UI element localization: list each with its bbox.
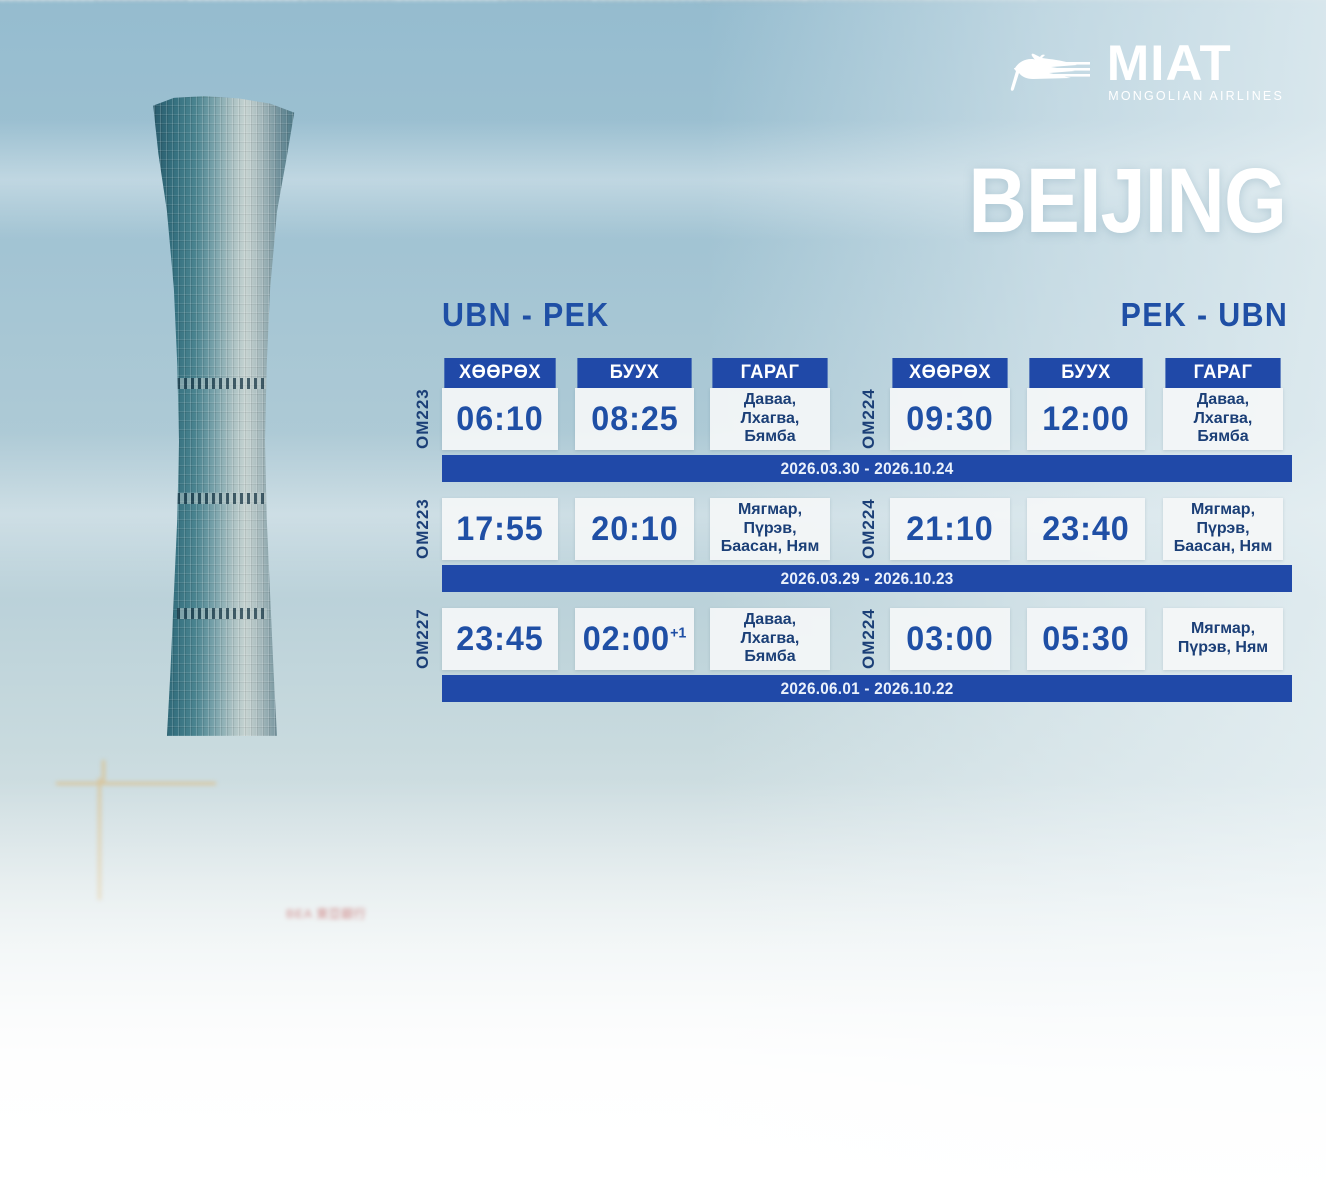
time-value: 02:00+1 [583, 620, 687, 659]
miat-bird-icon [1002, 44, 1094, 100]
cell-outbound-days: Мягмар, Пүрэв, Баасан, Ням [710, 498, 830, 560]
flight-schedule: UBN - PEK PEK - UBN ХӨӨРӨХ БУУХ ГАРАГ ХӨ… [404, 296, 1292, 702]
atmospheric-haze-bottom [0, 780, 1326, 1200]
tower-mech-band [177, 378, 266, 389]
validity-period: 2026.03.30 - 2026.10.24 [781, 459, 954, 479]
header-inbound-arrive: БУУХ [1029, 358, 1142, 388]
days-value: Даваа, Лхагва, Бямба [710, 391, 830, 448]
table-row: OM223 17:55 20:10 Мягмар, Пүрэв, Баасан,… [404, 498, 1292, 560]
time-value: 05:30 [1042, 620, 1129, 659]
time-value: 06:10 [456, 400, 543, 439]
header-outbound-depart: ХӨӨРӨХ [444, 358, 555, 388]
time-value: 23:40 [1042, 510, 1129, 549]
cell-outbound-depart: 17:55 [442, 498, 558, 560]
days-value: Даваа, Лхагва, Бямба [1163, 391, 1283, 448]
header-inbound-depart: ХӨӨРӨХ [892, 358, 1007, 388]
route-label-outbound: UBN - PEK [442, 296, 610, 334]
validity-period: 2026.06.01 - 2026.10.22 [781, 679, 954, 699]
time-text: 02:00 [583, 620, 670, 658]
days-value: Мягмар, Пүрэв, Ням [1163, 620, 1283, 658]
destination-title: BEIJING [968, 160, 1286, 243]
cell-outbound-depart: 06:10 [442, 388, 558, 450]
cell-outbound-days: Даваа, Лхагва, Бямба [710, 388, 830, 450]
cell-outbound-arrive: 02:00+1 [575, 608, 694, 670]
cell-inbound-days: Мягмар, Пүрэв, Ням [1163, 608, 1283, 670]
validity-period-band: 2026.03.30 - 2026.10.24 [442, 455, 1292, 482]
miat-logo[interactable]: MIAT MONGOLIAN AIRLINES [1002, 40, 1284, 103]
time-value: 03:00 [906, 620, 993, 659]
cell-inbound-depart: 21:10 [890, 498, 1010, 560]
time-value: 12:00 [1042, 400, 1129, 439]
validity-period-band: 2026.06.01 - 2026.10.22 [442, 675, 1292, 702]
day-offset-badge: +1 [670, 624, 686, 641]
time-value: 09:30 [906, 400, 993, 439]
flight-number-inbound: OM224 [854, 608, 884, 670]
time-value: 17:55 [456, 510, 543, 549]
cell-outbound-arrive: 08:25 [575, 388, 694, 450]
brand-name: MIAT [1107, 40, 1232, 86]
route-headings: UBN - PEK PEK - UBN [404, 296, 1292, 344]
flight-number-inbound: OM224 [854, 388, 884, 450]
validity-period-band: 2026.03.29 - 2026.10.23 [442, 565, 1292, 592]
cell-outbound-arrive: 20:10 [575, 498, 694, 560]
flight-number-inbound: OM224 [854, 498, 884, 560]
cell-inbound-depart: 03:00 [890, 608, 1010, 670]
table-row: OM227 23:45 02:00+1 Даваа, Лхагва, Бямба… [404, 608, 1292, 670]
cell-outbound-days: Даваа, Лхагва, Бямба [710, 608, 830, 670]
cell-inbound-days: Даваа, Лхагва, Бямба [1163, 388, 1283, 450]
tower-mech-band [177, 493, 266, 504]
validity-period: 2026.03.29 - 2026.10.23 [781, 569, 954, 589]
table-header-row: ХӨӨРӨХ БУУХ ГАРАГ ХӨӨРӨХ БУУХ ГАРАГ [404, 358, 1292, 388]
header-outbound-arrive: БУУХ [577, 358, 691, 388]
cell-inbound-depart: 09:30 [890, 388, 1010, 450]
cell-inbound-days: Мягмар, Пүрэв, Баасан, Ням [1163, 498, 1283, 560]
header-outbound-days: ГАРАГ [712, 358, 827, 388]
time-value: 08:25 [591, 400, 678, 439]
time-value: 23:45 [456, 620, 543, 659]
header-inbound-days: ГАРАГ [1165, 358, 1280, 388]
time-value: 20:10 [591, 510, 678, 549]
miat-wordmark: MIAT MONGOLIAN AIRLINES [1108, 40, 1284, 103]
days-value: Мягмар, Пүрэв, Баасан, Ням [710, 501, 830, 558]
days-value: Мягмар, Пүрэв, Баасан, Ням [1163, 501, 1283, 558]
brand-tagline: MONGOLIAN AIRLINES [1108, 89, 1284, 103]
cell-inbound-arrive: 23:40 [1027, 498, 1145, 560]
cell-inbound-arrive: 05:30 [1027, 608, 1145, 670]
flight-number-outbound: OM223 [408, 388, 438, 450]
time-value: 21:10 [906, 510, 993, 549]
tower-mech-band [177, 608, 266, 619]
cell-inbound-arrive: 12:00 [1027, 388, 1145, 450]
table-row: OM223 06:10 08:25 Даваа, Лхагва, Бямба O… [404, 388, 1292, 450]
cell-outbound-depart: 23:45 [442, 608, 558, 670]
days-value: Даваа, Лхагва, Бямба [710, 611, 830, 668]
route-label-inbound: PEK - UBN [1120, 296, 1288, 334]
flight-number-outbound: OM223 [408, 498, 438, 560]
flight-number-outbound: OM227 [408, 608, 438, 670]
